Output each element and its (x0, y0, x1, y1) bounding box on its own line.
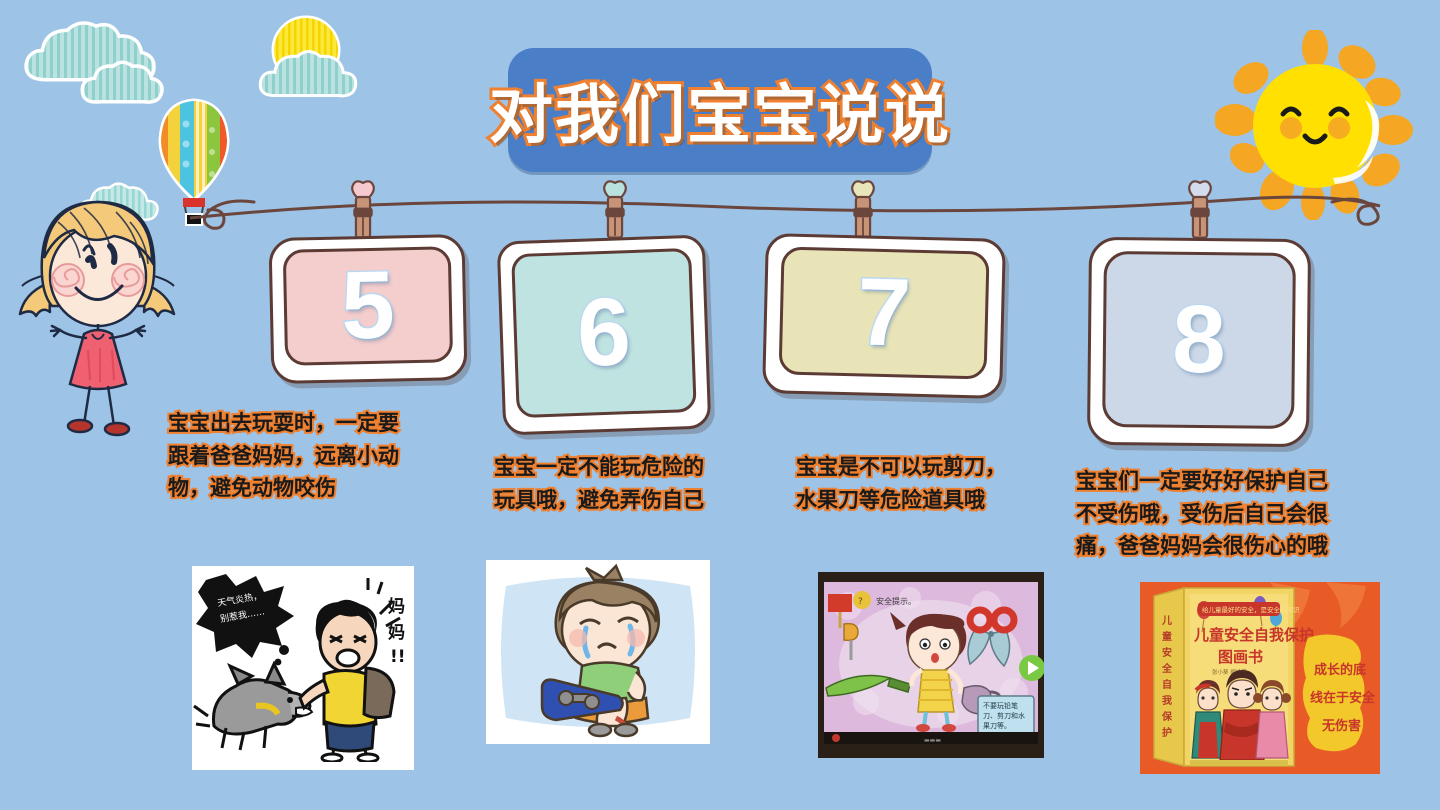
photo-safety-book-cover[interactable]: 儿童安 全自我 保护 给儿童最好的安全，是安全的知识 儿童安全自我保护 图画书 (1140, 582, 1380, 774)
svg-text:不要玩铅笔: 不要玩铅笔 (983, 701, 1018, 710)
svg-text:安全提示。: 安全提示。 (876, 596, 916, 606)
photo-card-8[interactable]: 8 (1087, 237, 1311, 447)
svg-text:成长的底: 成长的底 (1314, 662, 1366, 678)
clothespin-6-icon (600, 180, 630, 244)
photo-card-6[interactable]: 6 (497, 234, 712, 435)
svg-text:妈: 妈 (388, 622, 405, 643)
svg-text:童: 童 (1162, 630, 1172, 643)
photo-dangerous-tools-game[interactable]: ? 安全提示。 (818, 572, 1044, 758)
svg-text:图画书: 图画书 (1218, 648, 1263, 666)
caption-card-8: 宝宝们一定要好好保护自己 不受伤哦，受伤后自己会很 痛，爸爸妈妈会很伤心的哦 (1076, 466, 1388, 564)
card-number-5: 5 (340, 257, 395, 354)
svg-text:安: 安 (1162, 646, 1172, 659)
svg-text:给儿童最好的安全，是安全的知识: 给儿童最好的安全，是安全的知识 (1202, 605, 1300, 614)
cloud-top-right-pair (258, 8, 368, 113)
cloud-left-large (18, 12, 178, 107)
svg-text:保: 保 (1161, 710, 1173, 723)
photo-dog-bite[interactable]: 天气炎热， 别惹我…… (188, 562, 418, 774)
clothesline-curl (1330, 178, 1400, 238)
svg-text:无伤害: 无伤害 (1321, 718, 1361, 734)
svg-text:儿童安全自我保护: 儿童安全自我保护 (1193, 626, 1314, 644)
card-number-7: 7 (856, 264, 912, 361)
photo-card-7[interactable]: 7 (762, 233, 1006, 399)
svg-text:▬▬▬: ▬▬▬ (924, 737, 941, 744)
svg-text:果刀等。: 果刀等。 (983, 721, 1011, 730)
svg-text:儿: 儿 (1161, 615, 1172, 627)
caption-card-6: 宝宝一定不能玩危险的 玩具哦，避免弄伤自己 (494, 452, 774, 517)
svg-text:!!: !! (390, 647, 406, 667)
photo-crying-boy-skateboard[interactable] (486, 560, 710, 744)
svg-text:我: 我 (1162, 694, 1172, 707)
page-title: 对我们宝宝说说 (508, 48, 932, 172)
card-number-8: 8 (1172, 292, 1226, 389)
svg-text:护: 护 (1162, 726, 1172, 739)
svg-text:?: ? (858, 597, 863, 607)
photo-card-5[interactable]: 5 (268, 234, 467, 384)
svg-text:妈: 妈 (388, 596, 405, 617)
svg-text:刀、剪刀和水: 刀、剪刀和水 (983, 711, 1025, 720)
clothespin-5-icon (348, 180, 378, 244)
svg-text:自: 自 (1162, 678, 1172, 691)
clothespin-8-icon (1185, 180, 1215, 244)
svg-text:线在于安全: 线在于安全 (1310, 690, 1376, 706)
clothesline-curl-left (196, 196, 256, 244)
card-number-6: 6 (576, 284, 633, 382)
caption-card-7: 宝宝是不可以玩剪刀， 水果刀等危险道具哦 (796, 452, 1066, 517)
caption-card-5: 宝宝出去玩耍时，一定要 跟着爸爸妈妈，远离小动 物，避免动物咬伤 (168, 408, 468, 506)
slide-canvas: 对我们宝宝说说 5 6 (0, 0, 1440, 810)
svg-text:全: 全 (1161, 662, 1173, 675)
